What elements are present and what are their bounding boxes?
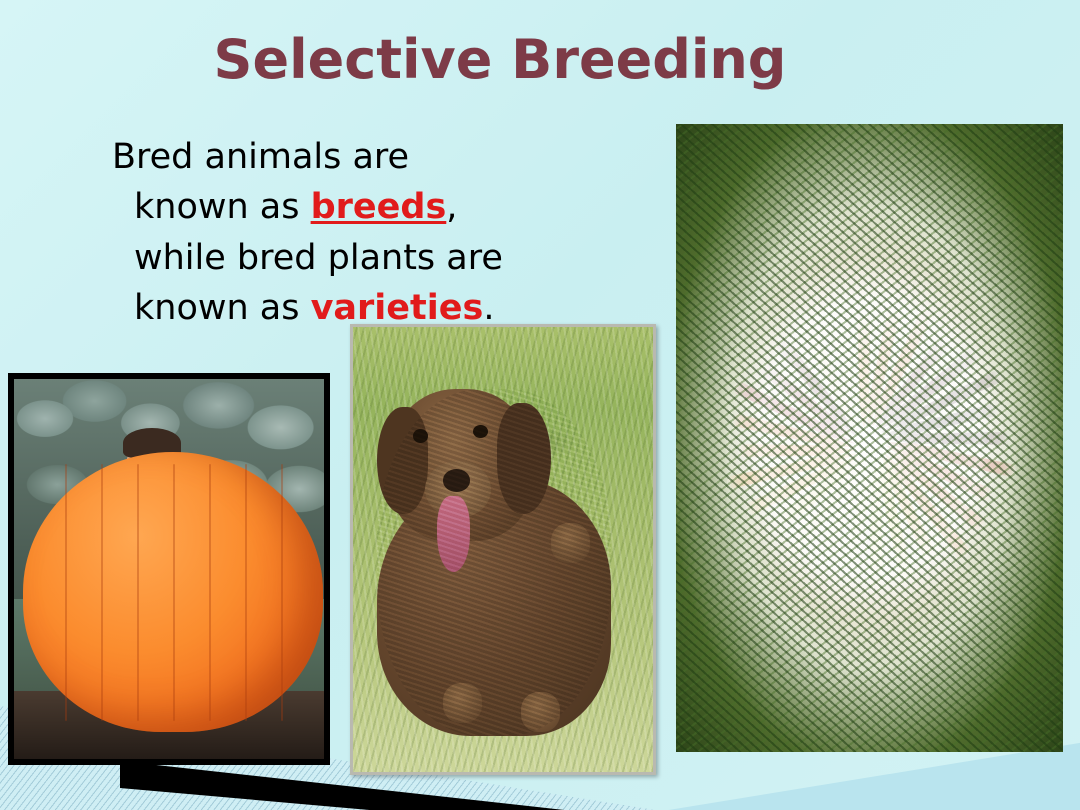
dog-scene bbox=[353, 327, 653, 772]
photo-giant-pumpkin bbox=[8, 373, 330, 765]
body-line-3-text: while bred plants are bbox=[134, 238, 503, 278]
pumpkin-body bbox=[23, 452, 323, 732]
dog-fur-texture bbox=[377, 389, 611, 736]
carrot-scene bbox=[676, 124, 1063, 752]
photo-carrot-varieties bbox=[676, 124, 1063, 752]
body-line-1: Bred animals are bbox=[112, 132, 632, 182]
body-line-4-prefix: known as bbox=[134, 288, 311, 328]
keyword-breeds: breeds bbox=[311, 187, 447, 227]
body-line-2-prefix: known as bbox=[134, 187, 311, 227]
carrot-foliage bbox=[676, 124, 1063, 752]
slide-body-text: Bred animals are known as breeds, while … bbox=[112, 132, 632, 334]
body-line-1-text: Bred animals are bbox=[112, 137, 409, 177]
pumpkin-rib bbox=[101, 464, 103, 722]
pumpkin-rib bbox=[65, 464, 67, 722]
presentation-slide: Selective Breeding Bred animals are know… bbox=[0, 0, 1080, 810]
pumpkin-rib bbox=[209, 464, 211, 722]
pumpkin-scene bbox=[14, 379, 324, 759]
pumpkin-rib bbox=[281, 464, 283, 722]
body-line-3: while bred plants are bbox=[112, 233, 632, 283]
pumpkin-rib bbox=[137, 464, 139, 722]
body-line-2: known as breeds, bbox=[112, 182, 632, 232]
body-line-2-suffix: , bbox=[446, 187, 457, 227]
photo-dog-breed bbox=[350, 324, 656, 775]
keyword-varieties: varieties bbox=[311, 288, 484, 328]
body-line-4-suffix: . bbox=[483, 288, 494, 328]
pumpkin-rib bbox=[245, 464, 247, 722]
pumpkin-rib bbox=[173, 464, 175, 722]
slide-title: Selective Breeding bbox=[0, 32, 1080, 89]
